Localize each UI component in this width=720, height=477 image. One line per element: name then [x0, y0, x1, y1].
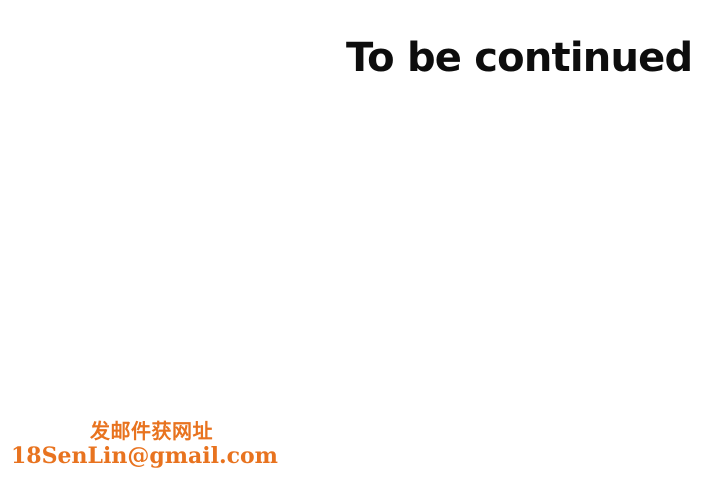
contact-note-chinese: 发邮件获网址: [90, 418, 213, 444]
contact-email-address[interactable]: 18SenLin@gmail.com: [11, 442, 278, 470]
slide-content-area: [0, 100, 720, 410]
slide-canvas: To be continued 发邮件获网址 18SenLin@gmail.co…: [0, 0, 720, 477]
contact-watermark: 发邮件获网址 18SenLin@gmail.com: [0, 416, 260, 477]
page-title: To be continued: [346, 34, 656, 82]
